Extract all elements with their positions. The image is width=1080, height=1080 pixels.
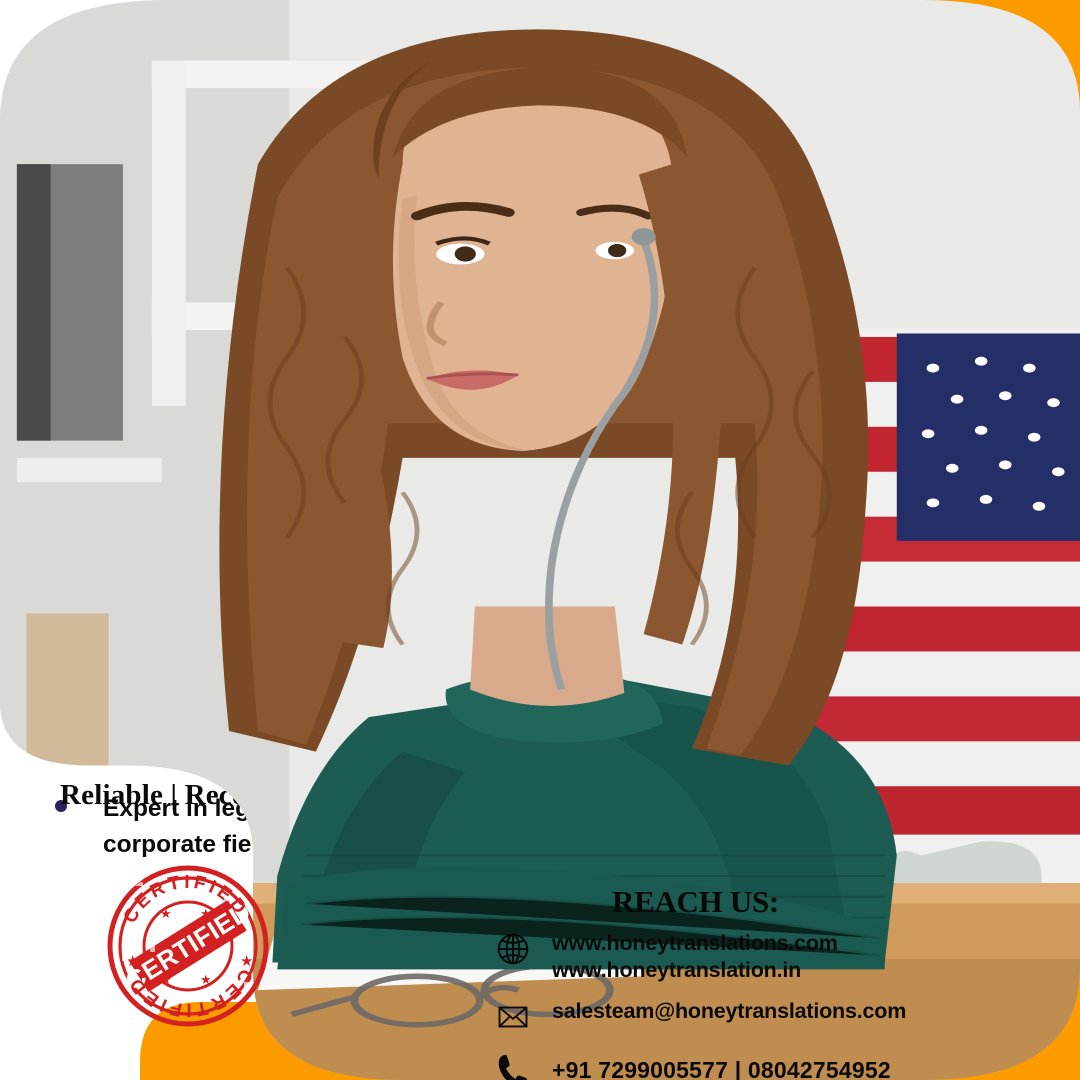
contact-row-email[interactable]: salesteam@honeytranslations.com	[492, 996, 1052, 1038]
website-line-1: www.honeytranslations.com	[552, 931, 838, 955]
certified-stamp-icon: CERTIFIED CERTIFIED CERTIFIED ★ ★ ★ ★ ★ …	[104, 862, 272, 1030]
svg-text:★: ★	[200, 906, 212, 921]
hero-photo	[533, 205, 981, 830]
svg-text:★: ★	[126, 953, 139, 970]
envelope-icon	[492, 996, 534, 1038]
phone-icon	[492, 1050, 534, 1080]
website-line-2: www.honeytranslation.in	[552, 958, 801, 982]
svg-text:★: ★	[200, 972, 212, 987]
contact-row-website[interactable]: www.honeytranslations.com www.honeytrans…	[492, 928, 1052, 984]
contact-row-phone[interactable]: +91 7299005577 | 08042754952	[492, 1050, 1052, 1080]
contact-list: www.honeytranslations.com www.honeytrans…	[492, 928, 1052, 1080]
contact-phone-text: +91 7299005577 | 08042754952	[552, 1050, 891, 1080]
svg-text:★: ★	[240, 953, 253, 970]
contact-website-text: www.honeytranslations.com www.honeytrans…	[552, 928, 838, 984]
svg-text:★: ★	[160, 972, 172, 987]
poster-canvas: க 阿 । અ ആ A रो ア ಅ ন HONEY® TRANSLATION …	[0, 0, 1080, 1080]
contact-heading: REACH US:	[612, 884, 779, 920]
globe-icon	[492, 928, 534, 970]
svg-text:★: ★	[160, 906, 172, 921]
contact-email-text: salesteam@honeytranslations.com	[552, 996, 906, 1025]
